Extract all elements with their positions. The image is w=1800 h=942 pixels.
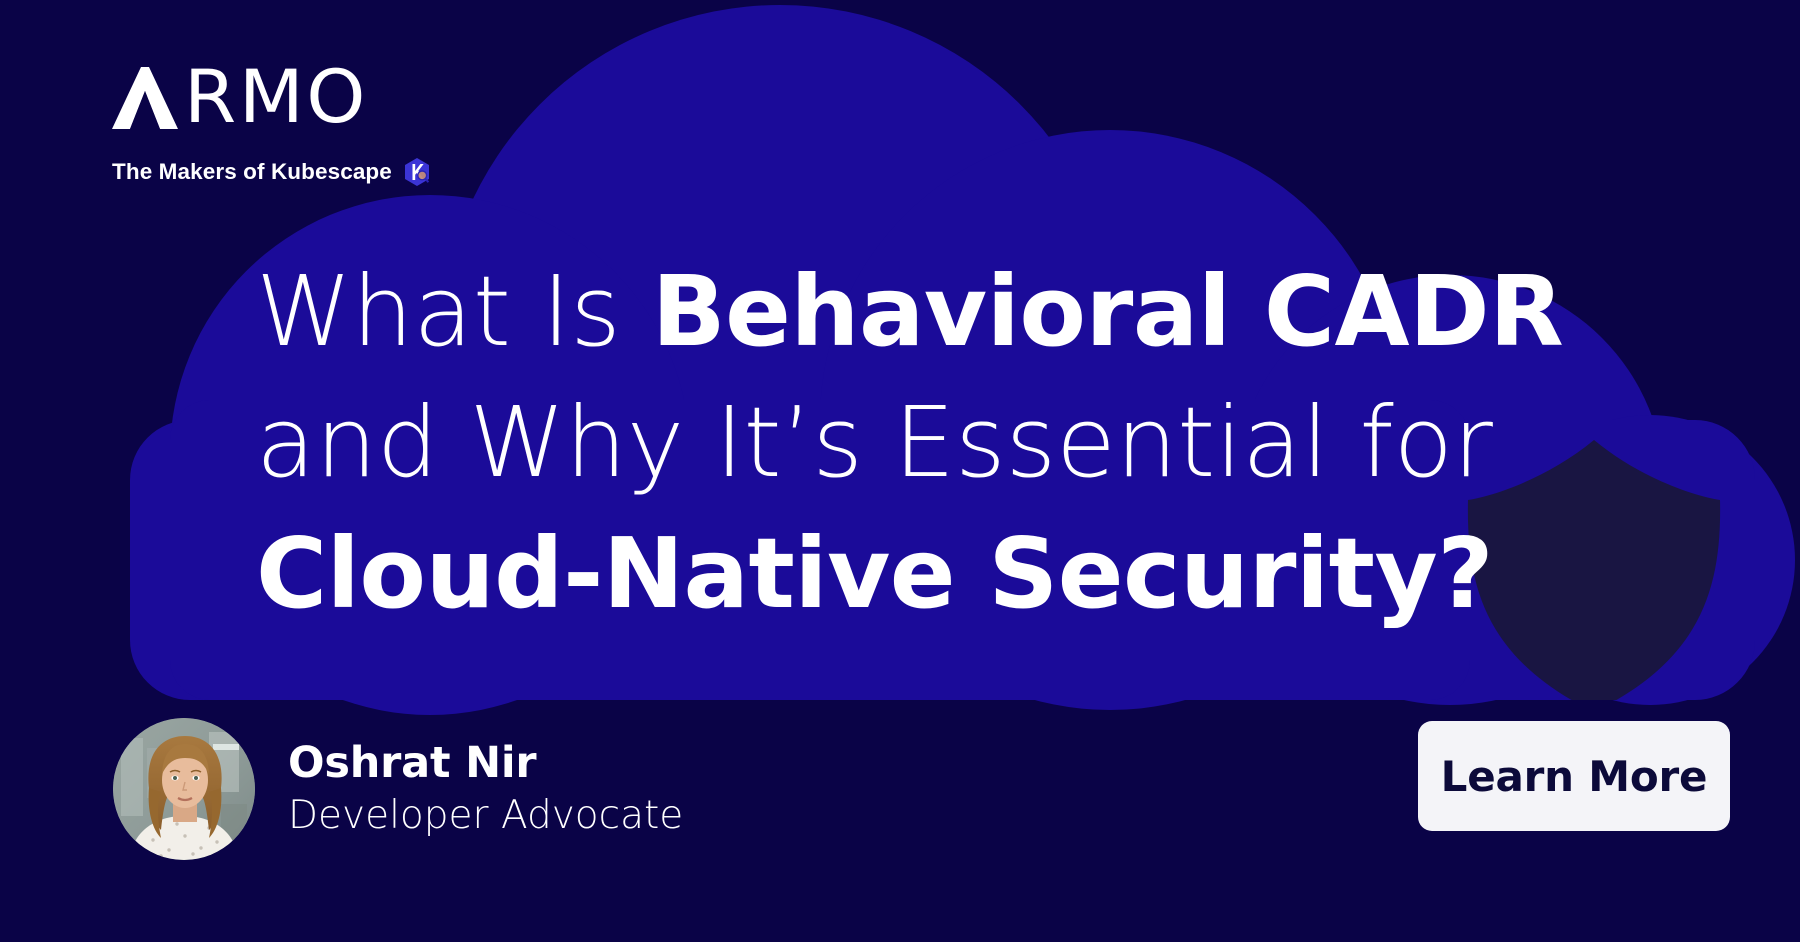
headline-line-3: Cloud-Native Security?	[256, 508, 1476, 639]
headline-line-1: What Is Behavioral CADR	[256, 246, 1476, 377]
headline-line-2: and Why It’s Essential for	[256, 377, 1476, 508]
armo-tagline-text: The Makers of Kubescape	[112, 159, 392, 185]
page-title: What Is Behavioral CADR and Why It’s Ess…	[256, 246, 1476, 639]
armo-tagline: The Makers of Kubescape	[112, 156, 432, 187]
armo-wordmark-text: RMO	[184, 65, 368, 131]
learn-more-button[interactable]: Learn More	[1418, 721, 1730, 831]
blog-promo-banner: RMO The Makers of Kubescape What Is Beha…	[0, 0, 1800, 942]
kubescape-hexagon-icon	[402, 157, 432, 187]
learn-more-label: Learn More	[1441, 752, 1708, 801]
headline-line-1-light: What Is	[256, 255, 652, 368]
author-role: Developer Advocate	[288, 791, 683, 841]
author-text: Oshrat Nir Developer Advocate	[288, 738, 683, 841]
armo-wordmark: RMO	[110, 62, 432, 134]
author-name: Oshrat Nir	[288, 738, 683, 788]
avatar	[113, 718, 255, 860]
headline-line-1-bold: Behavioral CADR	[652, 255, 1564, 368]
delta-triangle-icon	[110, 65, 180, 131]
author-block: Oshrat Nir Developer Advocate	[113, 718, 683, 860]
armo-logo[interactable]: RMO The Makers of Kubescape	[110, 62, 432, 187]
